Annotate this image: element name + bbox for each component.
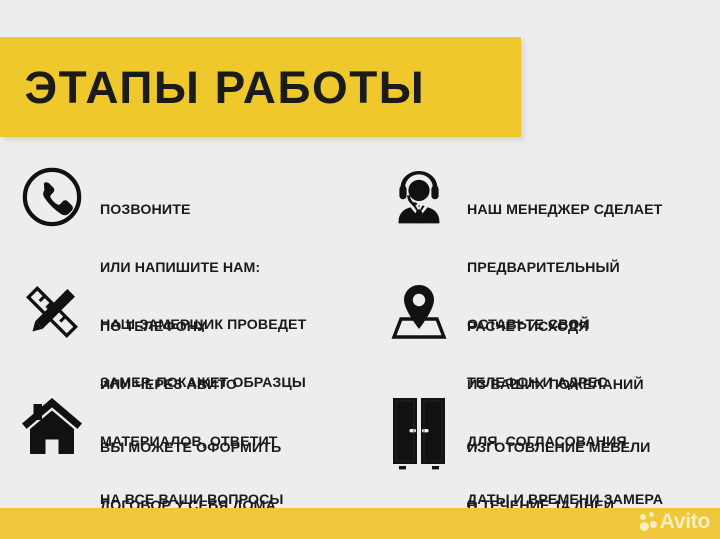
- title-banner: ЭТАПЫ РАБОТЫ: [0, 37, 521, 137]
- headset-manager-icon: [383, 160, 455, 234]
- step-line: ВЫ МОЖЕТЕ ОФОРМИТЬ: [100, 439, 281, 458]
- step-line: ОСТАВЬТЕ СВОЙ: [467, 316, 663, 335]
- poster-canvas: ЭТАПЫ РАБОТЫ ПОЗВОНИТЕ ИЛИ НАПИШИТЕ НАМ:…: [0, 0, 720, 539]
- avito-watermark-label: Avito: [660, 511, 710, 532]
- page-title: ЭТАПЫ РАБОТЫ: [0, 65, 425, 110]
- step-item-production: ИЗГОТОВЛЕНИЕ МЕБЕЛИ В ТЕЧЕНИЕ 14 ДНЕЙ СО…: [375, 390, 720, 500]
- avito-watermark: Avito: [640, 511, 710, 532]
- ruler-pencil-icon: [16, 275, 88, 349]
- house-icon: [16, 390, 88, 464]
- step-item-measurement: НАШ ЗАМЕРЩИК ПРОВЕДЕТ ЗАМЕР, ПОКАЖЕТ ОБР…: [0, 275, 375, 390]
- step-item-manager: НАШ МЕНЕДЖЕР СДЕЛАЕТ ПРЕДВАРИТЕЛЬНЫЙ РАС…: [375, 160, 720, 275]
- step-line: ИЗГОТОВЛЕНИЕ МЕБЕЛИ: [467, 439, 650, 458]
- map-pin-icon: [383, 275, 455, 349]
- wardrobe-icon: [383, 390, 455, 464]
- avito-dots-icon: [640, 512, 657, 532]
- step-item-contract-at-home: ВЫ МОЖЕТЕ ОФОРМИТЬ ДОГОВОР У СЕБЯ ДОМА Б…: [0, 390, 375, 500]
- steps-grid: ПОЗВОНИТЕ ИЛИ НАПИШИТЕ НАМ: ПО ТЕЛЕФОНУ …: [0, 160, 720, 500]
- step-line: НАШ ЗАМЕРЩИК ПРОВЕДЕТ: [100, 316, 306, 335]
- step-line: НАШ МЕНЕДЖЕР СДЕЛАЕТ: [467, 201, 662, 220]
- step-line: ПОЗВОНИТЕ: [100, 201, 260, 220]
- footer-strip: Avito: [0, 508, 720, 539]
- step-item-call: ПОЗВОНИТЕ ИЛИ НАПИШИТЕ НАМ: ПО ТЕЛЕФОНУ …: [0, 160, 375, 275]
- phone-in-circle-icon: [16, 160, 88, 234]
- step-item-address: ОСТАВЬТЕ СВОЙ ТЕЛЕФОН И АДРЕС ДЛЯ СОГЛАС…: [375, 275, 720, 390]
